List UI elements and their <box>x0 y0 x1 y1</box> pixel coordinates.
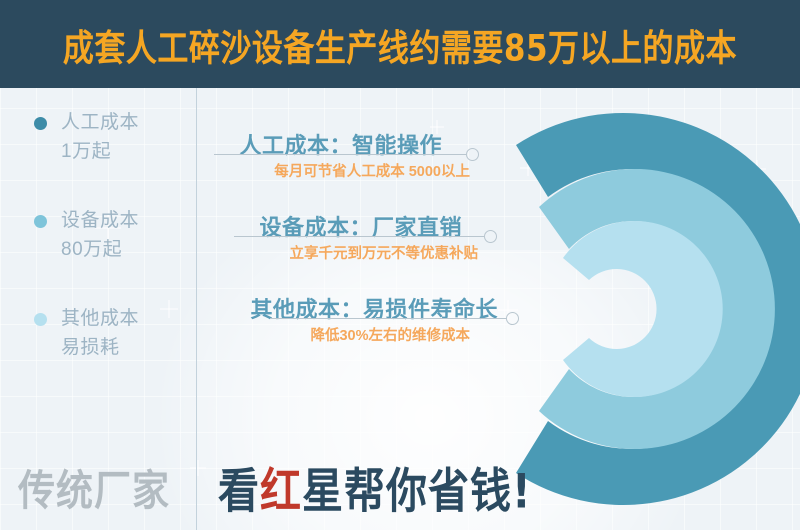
header-banner: 成套人工碎沙设备生产线约需要85万以上的成本 <box>0 0 800 88</box>
sidebar-item: 其他成本 易损耗 <box>34 304 196 362</box>
bullet-dot-icon <box>34 215 47 228</box>
sidebar-cost-list: 人工成本 1万起 设备成本 80万起 其他成本 易损耗 <box>0 108 196 438</box>
cta-suffix: 星帮你省钱! <box>302 464 532 520</box>
sidebar-item: 人工成本 1万起 <box>34 108 196 166</box>
benefit-subtitle: 立享千元到万元不等优惠补贴 <box>290 242 479 263</box>
vertical-divider <box>196 88 197 530</box>
traditional-manufacturer-label: 传统厂家 <box>18 456 170 518</box>
benefit-list: 人工成本：智能操作 每月可节省人工成本 5000以上 设备成本：厂家直销 立享千… <box>200 128 560 374</box>
sidebar-item-label: 设备成本 80万起 <box>61 206 139 264</box>
connector-endpoint-icon <box>484 230 497 243</box>
sparkle-decoration <box>190 460 206 476</box>
sidebar-item: 设备成本 80万起 <box>34 206 196 264</box>
infographic-poster: 成套人工碎沙设备生产线约需要85万以上的成本 人工成本 1万起 设备成本 80万… <box>0 0 800 530</box>
bullet-dot-icon <box>34 117 47 130</box>
benefit-item: 人工成本：智能操作 每月可节省人工成本 5000以上 <box>200 128 560 210</box>
benefit-subtitle: 降低30%左右的维修成本 <box>310 324 470 345</box>
sidebar-item-label: 其他成本 易损耗 <box>61 304 139 362</box>
benefit-heading: 设备成本：厂家直销 <box>259 210 462 242</box>
connector-endpoint-icon <box>466 148 479 161</box>
benefit-heading: 人工成本：智能操作 <box>239 128 442 160</box>
page-title: 成套人工碎沙设备生产线约需要85万以上的成本 <box>63 17 737 70</box>
call-to-action-label: 看红星帮你省钱! <box>218 452 532 522</box>
connector-endpoint-icon <box>506 312 519 325</box>
benefit-heading: 其他成本：易损件寿命长 <box>250 292 498 324</box>
benefit-item: 设备成本：厂家直销 立享千元到万元不等优惠补贴 <box>200 210 560 292</box>
bullet-dot-icon <box>34 313 47 326</box>
benefit-subtitle: 每月可节省人工成本 5000以上 <box>274 160 470 181</box>
benefit-item: 其他成本：易损件寿命长 降低30%左右的维修成本 <box>200 292 560 374</box>
sidebar-item-label: 人工成本 1万起 <box>61 108 139 166</box>
cta-prefix: 看 <box>218 464 260 520</box>
connector-line <box>234 236 484 237</box>
connector-line <box>270 318 506 319</box>
connector-line <box>214 154 466 155</box>
cta-accent-character: 红 <box>260 464 302 520</box>
